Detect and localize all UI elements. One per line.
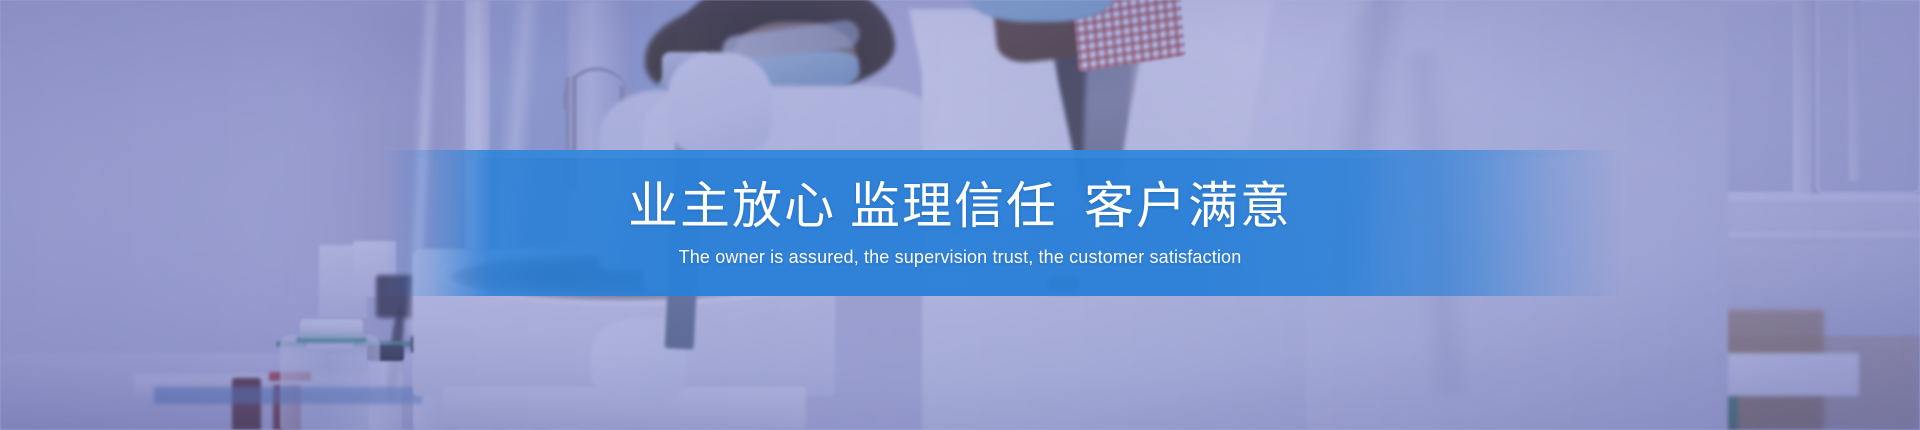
slogan-headline-part-3: 客户满意: [1084, 178, 1292, 234]
hero-banner: 业主放心监理信任客户满意 The owner is assured, the s…: [0, 0, 1920, 430]
slogan-subtitle: The owner is assured, the supervision tr…: [679, 246, 1242, 269]
slogan-headline: 业主放心监理信任客户满意: [628, 180, 1292, 233]
slogan-headline-part-1: 业主放心: [628, 178, 836, 234]
slogan-headline-part-2: 监理信任: [850, 178, 1058, 234]
slogan-text-block: 业主放心监理信任客户满意 The owner is assured, the s…: [0, 150, 1920, 296]
